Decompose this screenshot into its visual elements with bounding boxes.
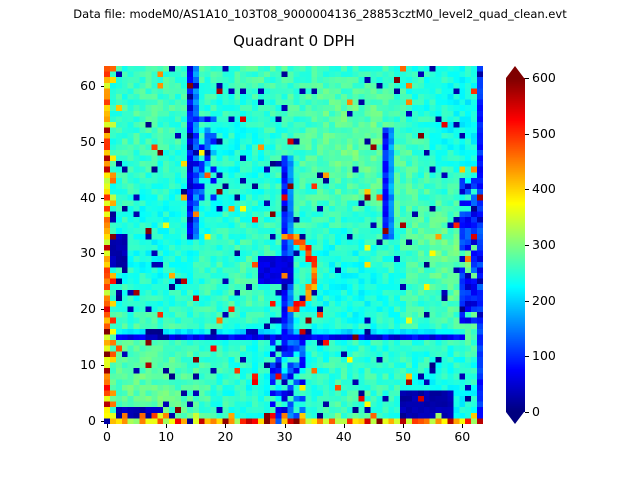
y-tick-mark (101, 309, 105, 310)
x-tick-mark (107, 424, 108, 428)
x-tick-label: 10 (146, 429, 186, 444)
colorbar-tick-label: 400 (532, 181, 556, 196)
y-tick-label: 10 (58, 357, 96, 372)
x-tick-mark (403, 424, 404, 428)
y-tick-mark (101, 421, 105, 422)
colorbar-gradient-image (506, 78, 525, 412)
colorbar-tick-label: 500 (532, 126, 556, 141)
dph-heatmap-image[interactable] (104, 66, 483, 424)
colorbar-tick-mark (525, 134, 529, 135)
y-tick-mark (101, 365, 105, 366)
x-tick-label: 20 (205, 429, 245, 444)
heatmap-axes[interactable] (104, 66, 483, 424)
colorbar-extend-high-arrow (506, 66, 524, 78)
x-tick-mark (225, 424, 226, 428)
x-tick-mark (344, 424, 345, 428)
data-file-annotation: Data file: modeM0/AS1A10_103T08_90000041… (0, 7, 640, 21)
y-tick-label: 60 (58, 78, 96, 93)
y-tick-label: 50 (58, 134, 96, 149)
x-tick-mark (285, 424, 286, 428)
colorbar-tick-mark (525, 301, 529, 302)
colorbar-gradient-body (506, 78, 525, 412)
x-tick-mark (462, 424, 463, 428)
colorbar-tick-mark (525, 245, 529, 246)
x-tick-label: 30 (265, 429, 305, 444)
colorbar-tick-label: 200 (532, 293, 556, 308)
x-tick-label: 40 (324, 429, 364, 444)
colorbar-tick-mark (525, 412, 529, 413)
plot-title: Quadrant 0 DPH (104, 32, 484, 50)
y-tick-label: 0 (58, 413, 96, 428)
colorbar-tick-mark (525, 189, 529, 190)
y-tick-mark (101, 198, 105, 199)
y-tick-mark (101, 253, 105, 254)
y-tick-label: 40 (58, 190, 96, 205)
x-tick-label: 50 (383, 429, 423, 444)
x-tick-label: 60 (442, 429, 482, 444)
colorbar-tick-label: 100 (532, 348, 556, 363)
colorbar-tick-label: 0 (532, 404, 540, 419)
colorbar-tick-mark (525, 78, 529, 79)
colorbar-tick-mark (525, 356, 529, 357)
y-tick-mark (101, 142, 105, 143)
colorbar[interactable] (506, 66, 525, 424)
x-tick-label: 0 (87, 429, 127, 444)
figure-canvas: Data file: modeM0/AS1A10_103T08_90000041… (0, 0, 640, 480)
x-tick-mark (166, 424, 167, 428)
y-tick-label: 30 (58, 245, 96, 260)
y-tick-mark (101, 86, 105, 87)
y-tick-label: 20 (58, 301, 96, 316)
colorbar-tick-label: 300 (532, 237, 556, 252)
colorbar-tick-label: 600 (532, 70, 556, 85)
colorbar-extend-low-arrow (506, 412, 524, 424)
